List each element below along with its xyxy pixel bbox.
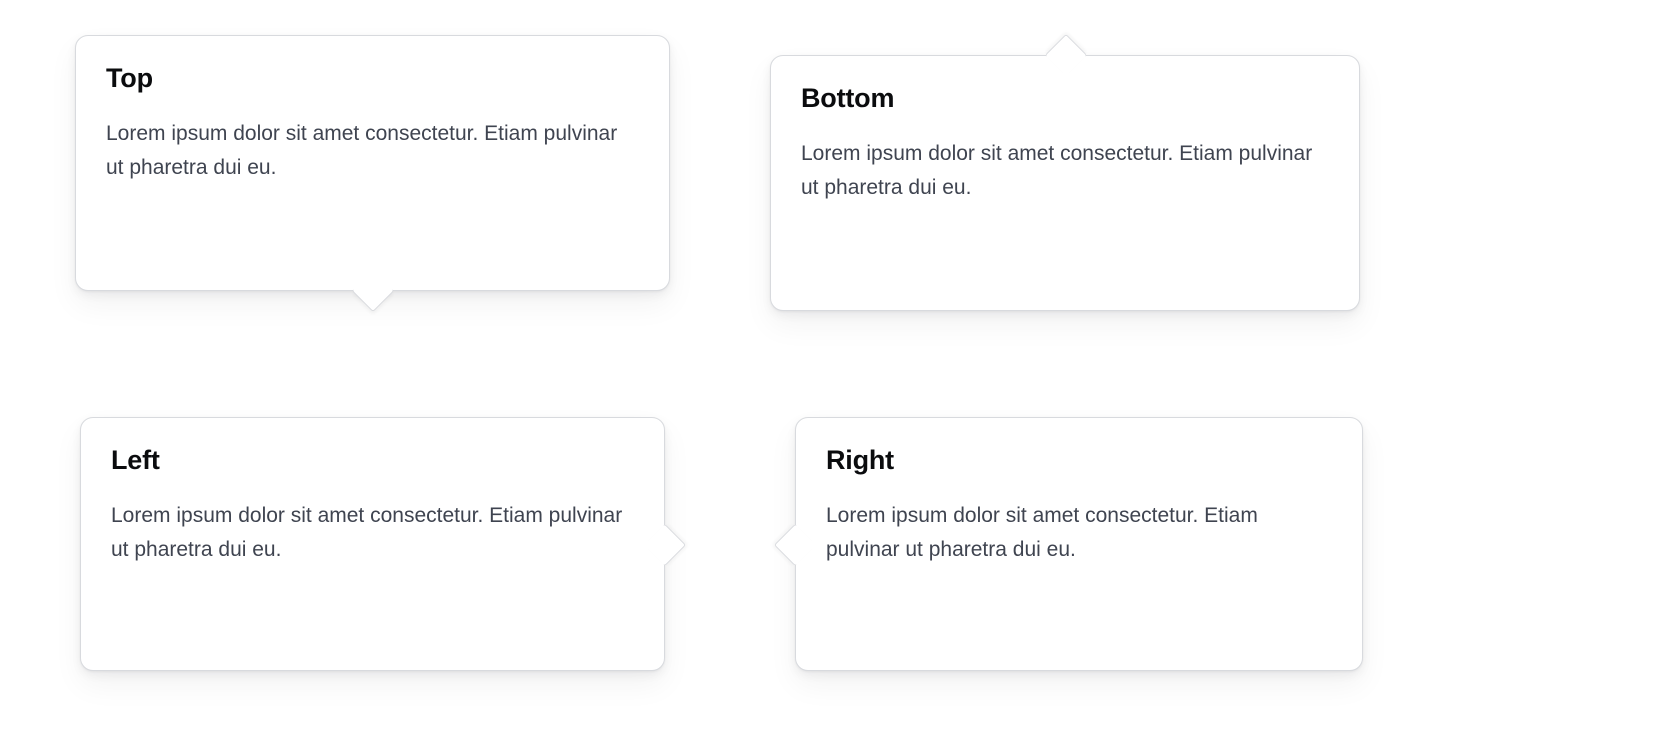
popover-showcase: Top Lorem ipsum dolor sit amet consectet… [0, 0, 1672, 740]
popover-left[interactable]: Left Lorem ipsum dolor sit amet consecte… [80, 417, 665, 671]
popover-body: Lorem ipsum dolor sit amet consectetur. … [111, 499, 634, 565]
popover-body: Lorem ipsum dolor sit amet consectetur. … [801, 137, 1329, 203]
popover-title: Right [826, 444, 1332, 476]
popover-title: Left [111, 444, 634, 476]
popover-bottom[interactable]: Bottom Lorem ipsum dolor sit amet consec… [770, 55, 1360, 311]
popover-title: Top [106, 62, 639, 94]
triangle-down-icon [352, 270, 394, 312]
popover-top[interactable]: Top Lorem ipsum dolor sit amet consectet… [75, 35, 670, 291]
triangle-right-icon [644, 523, 686, 565]
triangle-left-icon [774, 523, 816, 565]
popover-body: Lorem ipsum dolor sit amet consectetur. … [826, 499, 1332, 565]
popover-right[interactable]: Right Lorem ipsum dolor sit amet consect… [795, 417, 1363, 671]
popover-body: Lorem ipsum dolor sit amet consectetur. … [106, 117, 639, 183]
triangle-up-icon [1044, 34, 1086, 76]
popover-title: Bottom [801, 82, 1329, 114]
